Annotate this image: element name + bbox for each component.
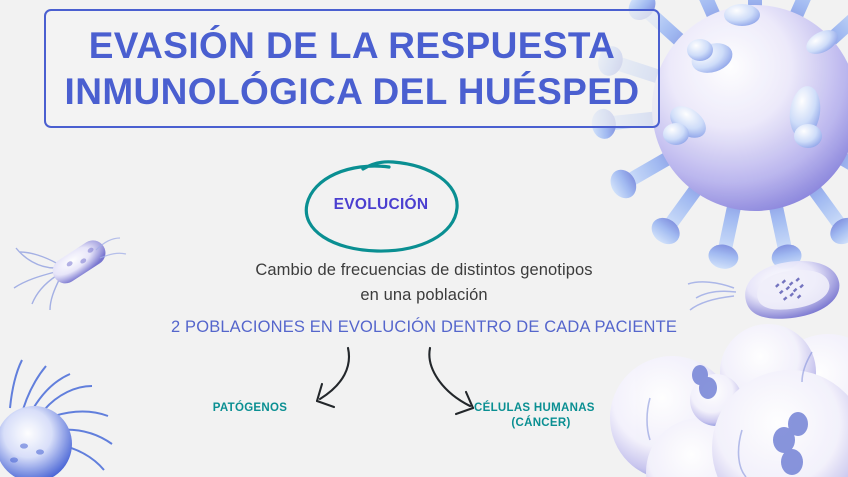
page-title-line-2: INMUNOLÓGICA DEL HUÉSPED: [65, 69, 640, 115]
evolucion-label: EVOLUCIÓN: [297, 196, 465, 214]
definition-line-2: en una población: [0, 283, 848, 308]
cell-cluster-icon: [610, 324, 848, 477]
arrow-left-head-b: [317, 401, 334, 407]
arrow-right-path: [429, 348, 470, 406]
branch-label-patogenos: PATÓGENOS: [185, 401, 315, 416]
arrow-right-head-b: [456, 408, 473, 414]
branch-label-celulas-main: CÉLULAS HUMANAS: [474, 402, 595, 414]
spiky-virus-icon: [0, 360, 112, 477]
definition-line-1: Cambio de frecuencias de distintos genot…: [0, 258, 848, 283]
page-title-line-1: EVASIÓN DE LA RESPUESTA: [89, 23, 616, 69]
evolucion-group: EVOLUCIÓN: [297, 156, 465, 256]
subtitle-text: 2 POBLACIONES EN EVOLUCIÓN DENTRO DE CAD…: [0, 318, 848, 337]
title-box: EVASIÓN DE LA RESPUESTA INMUNOLÓGICA DEL…: [44, 9, 660, 128]
slide-canvas: EVASIÓN DE LA RESPUESTA INMUNOLÓGICA DEL…: [0, 0, 848, 477]
arrow-layer: [300, 344, 500, 424]
branch-label-celulas-humanas: CÉLULAS HUMANAS (CÁNCER): [474, 401, 622, 431]
definition-text: Cambio de frecuencias de distintos genot…: [0, 258, 848, 308]
arrow-left-path: [320, 348, 349, 399]
branch-label-celulas-sub: (CÁNCER): [474, 416, 608, 431]
